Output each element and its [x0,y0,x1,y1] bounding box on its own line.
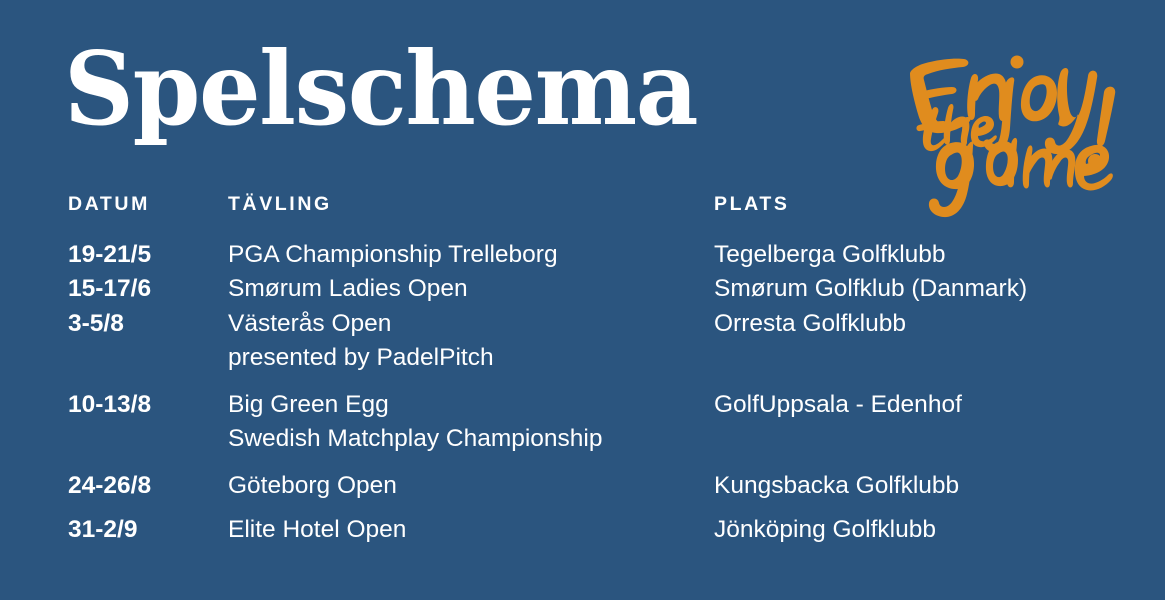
row-place: Orresta Golfklubb [714,307,1154,341]
column-header-plats: PLATS [714,192,1154,216]
row-date: 10-13/8 [68,388,218,422]
row-event: Big Green Egg Swedish Matchplay Champion… [228,388,698,456]
row-place: Jönköping Golfklubb [714,513,1154,547]
row-event: Elite Hotel Open [228,513,698,547]
row-date: 24-26/8 [68,469,218,503]
table-row: 31-2/9 Elite Hotel Open Jönköping Golfkl… [0,513,1165,549]
row-date: 19-21/5 15-17/6 [68,238,218,306]
row-date: 31-2/9 [68,513,218,547]
page-title: Spelschema [64,38,697,139]
schedule-table: DATUM TÄVLING PLATS 19-21/5 15-17/6 PGA … [0,192,1165,226]
row-place: Tegelberga Golfklubb Smørum Golfklub (Da… [714,238,1154,306]
row-date: 3-5/8 [68,307,218,341]
row-place: GolfUppsala - Edenhof [714,388,1154,422]
column-header-datum: DATUM [68,192,218,216]
column-header-tavling: TÄVLING [228,192,698,216]
table-row: 10-13/8 Big Green Egg Swedish Matchplay … [0,388,1165,458]
row-event: Göteborg Open [228,469,698,503]
row-event: Västerås Open presented by PadelPitch [228,307,698,375]
spelschema-poster: Spelschema [0,0,1165,600]
row-event: PGA Championship Trelleborg Smørum Ladie… [228,238,698,306]
table-row: 19-21/5 15-17/6 PGA Championship Trelleb… [0,238,1165,308]
row-place: Kungsbacka Golfklubb [714,469,1154,503]
table-header-row: DATUM TÄVLING PLATS [0,192,1165,226]
enjoy-the-game-logo [890,18,1120,188]
table-row: 3-5/8 Västerås Open presented by PadelPi… [0,307,1165,377]
table-row: 24-26/8 Göteborg Open Kungsbacka Golfklu… [0,469,1165,505]
